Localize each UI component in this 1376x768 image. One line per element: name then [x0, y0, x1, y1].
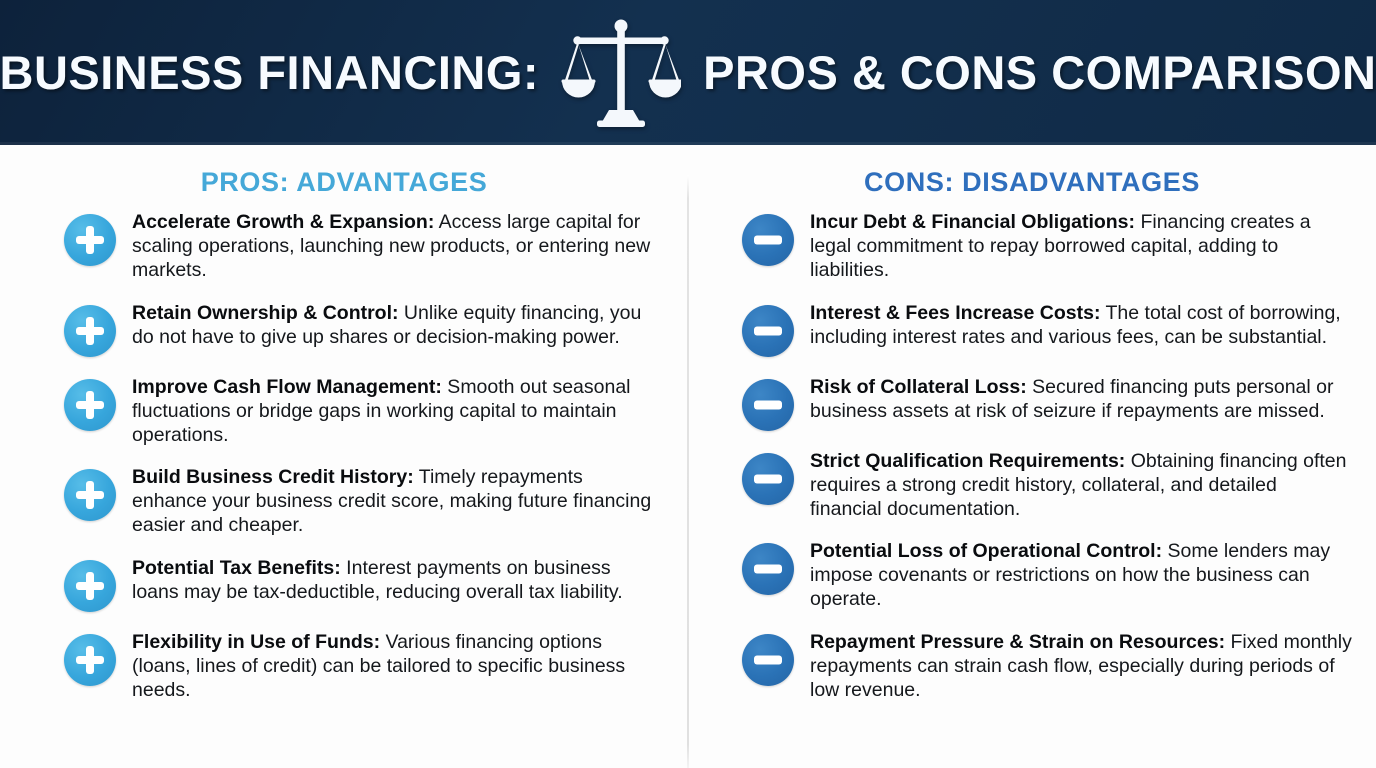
list-item: Strict Qualification Requirements: Obtai… — [742, 447, 1352, 522]
minus-icon — [742, 543, 794, 595]
minus-icon — [742, 453, 794, 505]
page-title-right: PROS & CONS COMPARISON — [703, 49, 1376, 96]
list-item: Potential Loss of Operational Control: S… — [742, 537, 1352, 612]
minus-icon — [742, 379, 794, 431]
list-item-text: Strict Qualification Requirements: Obtai… — [810, 447, 1352, 522]
header-band: BUSINESS FINANCING: PROS & CON — [0, 0, 1376, 145]
list-item: Incur Debt & Financial Obligations: Fina… — [742, 208, 1352, 283]
list-item-title: Incur Debt & Financial Obligations: — [810, 211, 1135, 233]
balance-scale-icon — [561, 17, 681, 129]
cons-column-heading: CONS: DISADVANTAGES — [688, 145, 1376, 208]
list-item-text: Interest & Fees Increase Costs: The tota… — [810, 299, 1352, 349]
list-item-title: Risk of Collateral Loss: — [810, 376, 1027, 398]
cons-item-list: Incur Debt & Financial Obligations: Fina… — [0, 208, 1376, 702]
cons-column: CONS: DISADVANTAGES Incur Debt & Financi… — [688, 145, 1376, 768]
comparison-columns: PROS: ADVANTAGES Accelerate Growth & Exp… — [0, 145, 1376, 768]
minus-icon — [742, 305, 794, 357]
list-item-text: Repayment Pressure & Strain on Resources… — [810, 628, 1352, 703]
minus-icon — [742, 214, 794, 266]
infographic-root: BUSINESS FINANCING: PROS & CON — [0, 0, 1376, 768]
list-item: Repayment Pressure & Strain on Resources… — [742, 628, 1352, 703]
list-item-title: Potential Loss of Operational Control: — [810, 540, 1162, 562]
list-item-title: Repayment Pressure & Strain on Resources… — [810, 631, 1225, 653]
list-item-text: Potential Loss of Operational Control: S… — [810, 537, 1352, 612]
list-item-title: Interest & Fees Increase Costs: — [810, 302, 1100, 324]
list-item-text: Risk of Collateral Loss: Secured financi… — [810, 373, 1352, 423]
minus-icon — [742, 634, 794, 686]
list-item-title: Strict Qualification Requirements: — [810, 450, 1125, 472]
pros-column-heading: PROS: ADVANTAGES — [0, 145, 688, 208]
list-item-text: Incur Debt & Financial Obligations: Fina… — [810, 208, 1352, 283]
list-item: Interest & Fees Increase Costs: The tota… — [742, 299, 1352, 357]
list-item: Risk of Collateral Loss: Secured financi… — [742, 373, 1352, 431]
page-title-left: BUSINESS FINANCING: — [0, 49, 539, 96]
